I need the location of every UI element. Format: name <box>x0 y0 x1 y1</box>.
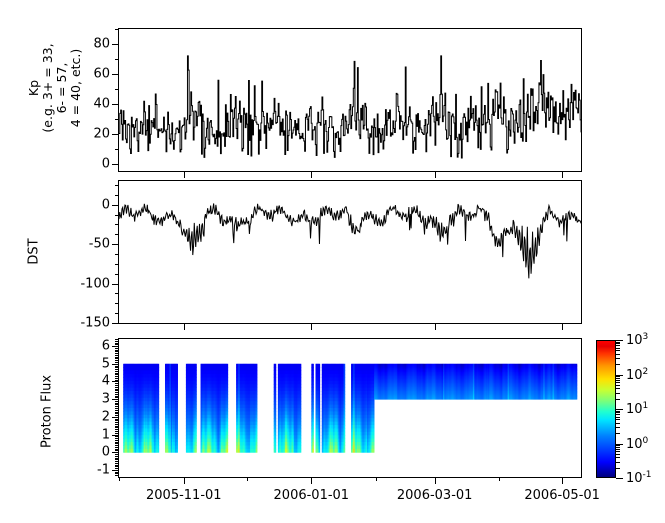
flux-ytick-minor <box>115 348 118 349</box>
colorbar-tick-minor <box>616 345 620 346</box>
colorbar-tick-minor <box>616 376 620 377</box>
colorbar-tick-minor <box>616 451 620 452</box>
flux-ytick-minor <box>115 343 118 344</box>
kp-xtick <box>311 172 312 178</box>
flux-ytick-minor <box>115 449 118 450</box>
kp-ytick-minor <box>115 149 118 150</box>
dst-xtick <box>311 324 312 330</box>
flux-ytick-minor <box>115 443 118 444</box>
xaxis-tick-label: 2005-11-01 <box>146 488 222 503</box>
flux-ytick-minor <box>115 436 118 437</box>
colorbar-tick-minor <box>616 348 620 349</box>
colorbar-tick-minor <box>616 414 620 415</box>
flux-ytick-minor <box>115 458 118 459</box>
flux-ytick-minor <box>115 397 118 398</box>
flux-xtick-major <box>562 478 563 484</box>
flux-ytick-minor <box>115 385 118 386</box>
flux-ytick-minor <box>115 419 118 420</box>
dst-ytick-minor <box>115 205 118 206</box>
dst-ytick-minor <box>115 244 118 245</box>
flux-ytick-label: 2 <box>74 409 110 424</box>
kp-ytick-major <box>112 164 118 165</box>
flux-ytick-minor <box>115 367 118 368</box>
colorbar-tick-minor <box>616 457 620 458</box>
flux-ytick-minor <box>115 381 118 382</box>
dst-xtick <box>562 324 563 330</box>
flux-ytick-minor <box>115 401 118 402</box>
flux-ytick-minor <box>115 358 118 359</box>
colorbar-tick-minor <box>616 433 620 434</box>
kp-axis-title-l4: 4 = 40, etc.) <box>68 49 83 128</box>
colorbar-tick-minor <box>616 354 620 355</box>
flux-ytick-minor <box>115 396 118 397</box>
kp-ytick-major <box>112 44 118 45</box>
flux-ytick-minor <box>115 461 118 462</box>
dst-ytick-minor <box>115 185 118 186</box>
flux-ytick-minor <box>115 466 118 467</box>
dst-ytick-minor <box>115 224 118 225</box>
kp-ytick-label: 60 <box>74 66 110 81</box>
dst-xtick <box>184 324 185 330</box>
kp-plot-panel <box>118 28 582 172</box>
flux-ytick-minor <box>115 369 118 370</box>
flux-ytick-minor <box>115 357 118 358</box>
xaxis-tick-label: 2006-03-01 <box>397 488 473 503</box>
flux-xtick-minor <box>499 478 500 481</box>
flux-ytick-minor <box>115 420 118 421</box>
flux-ytick-minor <box>115 475 118 476</box>
flux-ytick-minor <box>115 399 118 400</box>
flux-xtick-major <box>311 478 312 484</box>
kp-ytick-major <box>112 134 118 135</box>
dst-ytick-minor <box>115 274 118 275</box>
colorbar-tick-major <box>616 478 623 479</box>
dst-line-plot <box>119 181 581 323</box>
colorbar-tick-minor <box>616 385 620 386</box>
colorbar-tick-minor <box>616 412 620 413</box>
kp-ytick-minor <box>115 119 118 120</box>
colorbar-tick-label: 100 <box>626 435 648 451</box>
flux-ytick-minor <box>115 380 118 381</box>
flux-ytick-minor <box>115 422 118 423</box>
figure-canvas: Kp (e.g. 3+ = 33, 6- = 57, 4 = 40, etc.)… <box>0 0 665 523</box>
flux-ytick-minor <box>115 426 118 427</box>
colorbar-tick-minor <box>616 382 620 383</box>
dst-ytick-minor <box>115 284 118 285</box>
dst-ytick-minor <box>115 313 118 314</box>
colorbar-tick-minor <box>616 462 620 463</box>
flux-ytick-minor <box>115 413 118 414</box>
flux-ytick-minor <box>115 353 118 354</box>
flux-ytick-minor <box>115 355 118 356</box>
dst-ytick-label: -50 <box>66 237 110 252</box>
colorbar-tick-minor <box>616 364 620 365</box>
flux-ytick-minor <box>115 463 118 464</box>
flux-ytick-minor <box>115 427 118 428</box>
kp-xtick <box>562 172 563 178</box>
dst-ytick-label: -150 <box>66 316 110 331</box>
kp-ytick-major <box>112 74 118 75</box>
colorbar-tick-minor <box>616 411 620 412</box>
flux-ytick-minor <box>115 465 118 466</box>
colorbar-tick-label: 103 <box>626 332 648 348</box>
dst-ytick-minor <box>115 293 118 294</box>
colorbar-tick-minor <box>616 417 620 418</box>
dst-ytick-minor <box>115 215 118 216</box>
flux-ytick-minor <box>115 445 118 446</box>
kp-ytick-label: 0 <box>74 156 110 171</box>
dst-ytick-label: 0 <box>66 197 110 212</box>
colorbar-tick-minor <box>616 343 620 344</box>
flux-xtick-major <box>184 478 185 484</box>
colorbar <box>596 340 616 478</box>
flux-ytick-minor <box>115 346 118 347</box>
flux-ytick-minor <box>115 374 118 375</box>
colorbar-tick-minor <box>616 454 620 455</box>
flux-ytick-minor <box>115 429 118 430</box>
proton-flux-panel <box>118 338 582 478</box>
dst-ytick-minor <box>115 254 118 255</box>
colorbar-tick-label: 10-1 <box>626 470 652 486</box>
flux-xtick-minor <box>119 478 120 481</box>
kp-trace <box>119 56 581 158</box>
flux-ytick-label: 3 <box>74 392 110 407</box>
flux-xtick-minor <box>247 478 248 481</box>
flux-ytick-minor <box>115 373 118 374</box>
kp-ytick-minor <box>115 29 118 30</box>
colorbar-tick-label: 101 <box>626 401 648 417</box>
colorbar-tick-minor <box>616 342 620 343</box>
flux-ytick-minor <box>115 431 118 432</box>
flux-ytick-minor <box>115 459 118 460</box>
flux-ytick-minor <box>115 440 118 441</box>
kp-axis-title-l1: Kp <box>26 80 41 96</box>
colorbar-tick-label: 102 <box>626 366 648 382</box>
kp-ytick-label: 20 <box>74 126 110 141</box>
kp-ytick-major <box>112 104 118 105</box>
colorbar-tick-minor <box>616 419 620 420</box>
kp-line-plot <box>119 29 581 171</box>
flux-ytick-minor <box>115 456 118 457</box>
kp-xtick <box>184 172 185 178</box>
flux-ytick-minor <box>115 378 118 379</box>
flux-ytick-minor <box>115 408 118 409</box>
flux-ytick-label: 1 <box>74 427 110 442</box>
colorbar-tick-minor <box>616 358 620 359</box>
colorbar-tick-minor <box>616 393 620 394</box>
flux-ytick-minor <box>115 362 118 363</box>
flux-ytick-minor <box>115 412 118 413</box>
kp-xtick <box>435 172 436 178</box>
flux-ytick-minor <box>115 392 118 393</box>
colorbar-tick-minor <box>616 423 620 424</box>
flux-ytick-minor <box>115 442 118 443</box>
flux-ytick-minor <box>115 452 118 453</box>
flux-ytick-minor <box>115 341 118 342</box>
colorbar-tick-minor <box>616 449 620 450</box>
flux-ytick-minor <box>115 383 118 384</box>
flux-ytick-minor <box>115 389 118 390</box>
colorbar-tick-minor <box>616 378 620 379</box>
spectrogram-cells <box>123 364 577 453</box>
flux-ytick-minor <box>115 344 118 345</box>
flux-ytick-minor <box>115 360 118 361</box>
flux-ytick-minor <box>115 435 118 436</box>
flux-ytick-minor <box>115 371 118 372</box>
colorbar-tick-minor <box>616 447 620 448</box>
flux-ytick-minor <box>115 417 118 418</box>
flux-ytick-minor <box>115 404 118 405</box>
xaxis-tick-label: 2006-01-01 <box>274 488 350 503</box>
kp-ytick-label: 40 <box>74 96 110 111</box>
dst-plot-panel <box>118 180 582 324</box>
flux-ytick-minor <box>115 364 118 365</box>
colorbar-tick-minor <box>616 427 620 428</box>
flux-ytick-minor <box>115 376 118 377</box>
flux-ytick-minor <box>115 473 118 474</box>
flux-ytick-minor <box>115 433 118 434</box>
flux-ytick-minor <box>115 450 118 451</box>
flux-ytick-minor <box>115 350 118 351</box>
flux-xtick-major <box>435 478 436 484</box>
colorbar-tick-minor <box>616 399 620 400</box>
proton-flux-spectrogram <box>119 339 581 477</box>
flux-ytick-minor <box>115 390 118 391</box>
flux-ytick-minor <box>115 454 118 455</box>
kp-ytick-minor <box>115 59 118 60</box>
colorbar-tick-minor <box>616 388 620 389</box>
colorbar-tick-minor <box>616 380 620 381</box>
flux-ytick-minor <box>115 410 118 411</box>
flux-ytick-label: 4 <box>74 374 110 389</box>
flux-ytick-label: 0 <box>74 445 110 460</box>
flux-ytick-minor <box>115 339 118 340</box>
dst-ytick-minor <box>115 303 118 304</box>
colorbar-tick-minor <box>616 445 620 446</box>
flux-ytick-minor <box>115 438 118 439</box>
kp-axis-title-l2: (e.g. 3+ = 33, <box>40 43 55 132</box>
flux-ytick-minor <box>115 406 118 407</box>
dst-xtick <box>435 324 436 330</box>
flux-xtick-minor <box>376 478 377 481</box>
flux-ytick-minor <box>115 470 118 471</box>
flux-ytick-minor <box>115 447 118 448</box>
flux-axis-title: Proton Flux <box>40 357 55 467</box>
dst-ytick-major <box>112 323 118 324</box>
dst-ytick-label: -100 <box>66 276 110 291</box>
kp-axis-title-l3: 6- = 57, <box>54 63 69 114</box>
flux-ytick-minor <box>115 415 118 416</box>
flux-ytick-minor <box>115 366 118 367</box>
dst-ytick-minor <box>115 234 118 235</box>
dst-axis-title: DST <box>27 222 42 282</box>
flux-ytick-minor <box>115 424 118 425</box>
flux-ytick-minor <box>115 351 118 352</box>
dst-ytick-minor <box>115 195 118 196</box>
flux-ytick-label: -1 <box>74 462 110 477</box>
flux-ytick-minor <box>115 394 118 395</box>
colorbar-tick-minor <box>616 468 620 469</box>
dst-trace <box>119 203 581 278</box>
xaxis-tick-label: 2006-05-01 <box>524 488 600 503</box>
colorbar-tick-minor <box>616 350 620 351</box>
flux-ytick-label: 6 <box>74 339 110 354</box>
flux-ytick-minor <box>115 403 118 404</box>
kp-ytick-label: 80 <box>74 36 110 51</box>
kp-ytick-minor <box>115 89 118 90</box>
dst-ytick-minor <box>115 264 118 265</box>
flux-ytick-minor <box>115 472 118 473</box>
flux-ytick-minor <box>115 468 118 469</box>
flux-ytick-label: 5 <box>74 356 110 371</box>
flux-ytick-minor <box>115 387 118 388</box>
